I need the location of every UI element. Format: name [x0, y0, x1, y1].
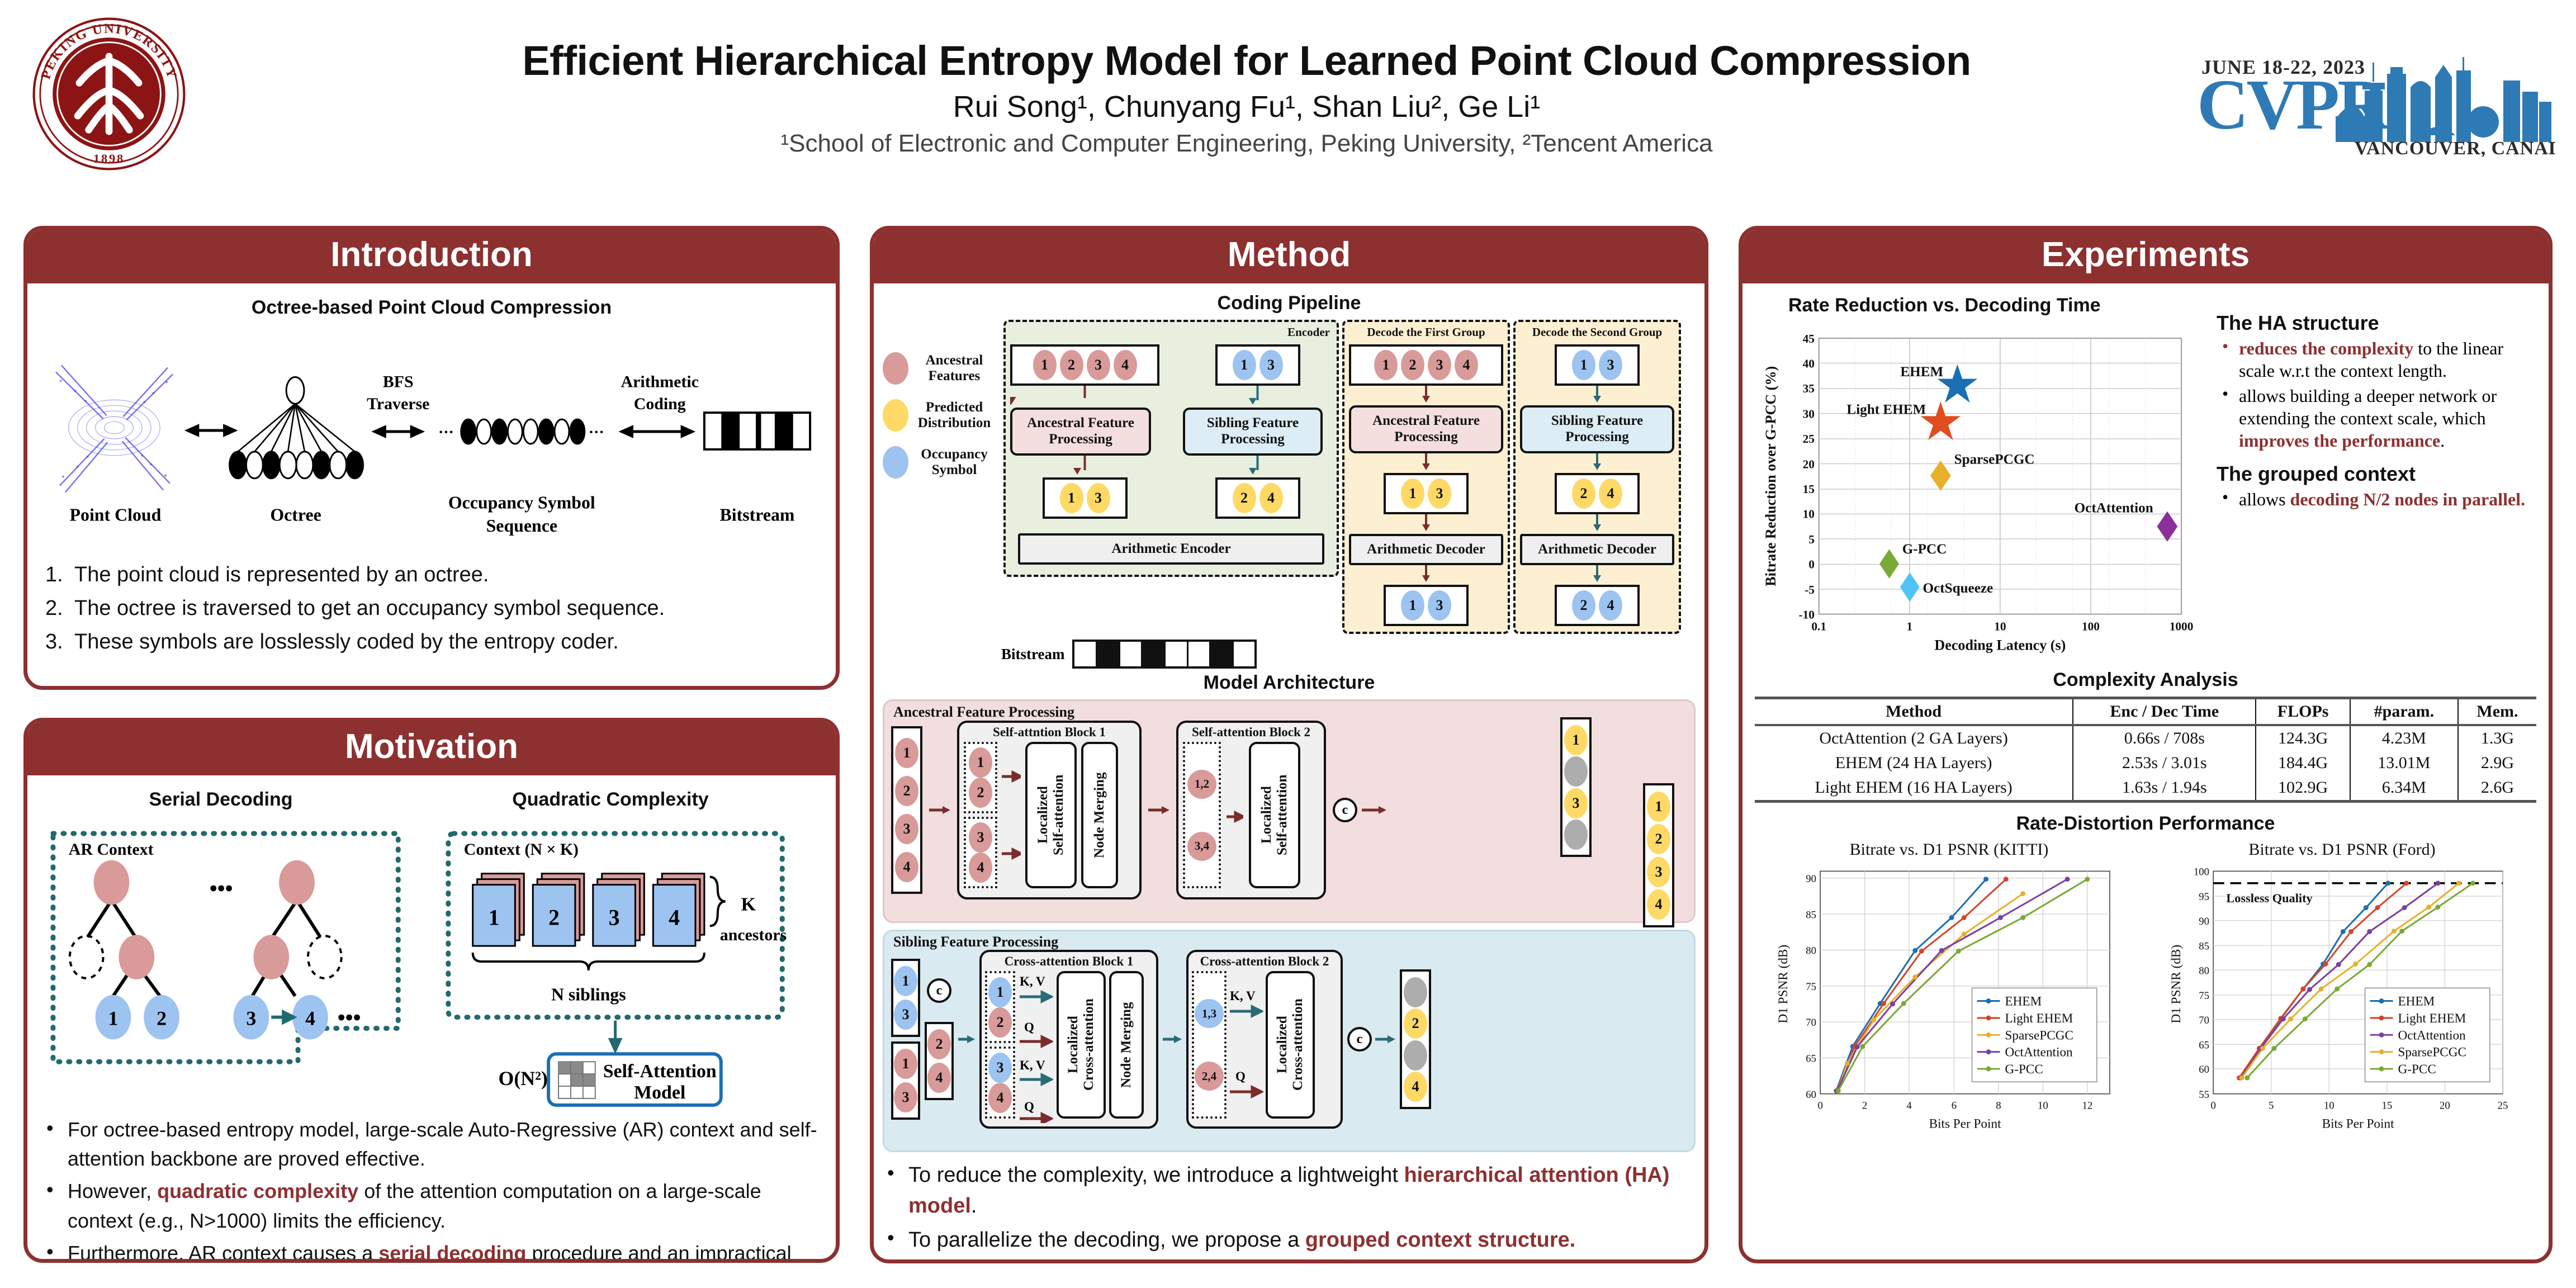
occupancy-symbol-icon — [883, 446, 908, 479]
svg-text:25: 25 — [2498, 1100, 2508, 1111]
svg-text:VANCOUVER, CANADA: VANCOUVER, CANADA — [2355, 138, 2555, 157]
legend-item-occupancy: OccupancySymbol — [883, 446, 1000, 479]
svg-text:0.1: 0.1 — [1811, 620, 1826, 633]
token-pred-1: 1 — [1060, 483, 1083, 513]
intro-item-3: 3.These symbols are losslessly coded by … — [45, 626, 821, 659]
k-brace — [710, 877, 726, 926]
cross-attention-block-1: Cross-attention Block 1 1 2 3 4 — [979, 950, 1158, 1129]
q-label-2: Q — [1024, 1100, 1034, 1114]
arrow-sa1-sa2 — [1148, 804, 1169, 816]
svg-text:···: ··· — [589, 424, 604, 441]
decode1-occ-13: 1 3 — [1384, 585, 1469, 626]
svg-text:35: 35 — [1803, 382, 1815, 395]
decode2-arithmetic-decoder: Arithmetic Decoder — [1520, 534, 1674, 566]
cell-mem: 2.9G — [2458, 751, 2536, 775]
arrow-merged-attn — [1227, 742, 1243, 893]
arrow-anc-out — [1362, 804, 1386, 816]
svg-text:80: 80 — [2199, 965, 2209, 977]
ha-structure-title: The HA structure — [2217, 311, 2536, 335]
bfs-label-line1: BFS — [383, 372, 414, 391]
rd-kitti-chart: Bitrate vs. D1 PSNR (KITTI) — [1755, 840, 2143, 1142]
svg-text:-5: -5 — [1805, 583, 1815, 596]
encoder-group: Encoder 1 2 3 4 Ancestral FeaturePro — [1003, 320, 1339, 577]
svg-text:3: 3 — [609, 905, 620, 930]
n-siblings-brace — [473, 953, 704, 970]
decode-first-group: Decode the First Group 1 2 3 4 Ancestral… — [1342, 320, 1510, 634]
cell-time: 1.63s / 1.94s — [2073, 775, 2256, 802]
rate-reduction-chart: Rate Reduction vs. Decoding Time — [1755, 291, 2208, 660]
svg-text:OctSqueeze: OctSqueeze — [1922, 581, 1993, 596]
decode2-occ-24: 2 4 — [1555, 585, 1640, 626]
experiments-heading: Experiments — [1742, 230, 2549, 283]
svg-text:65: 65 — [2199, 1039, 2209, 1051]
ford-xlabel: Bits Per Point — [2322, 1116, 2394, 1131]
token-anc-3: 3 — [1087, 350, 1110, 380]
complexity-label: O(N²) — [498, 1067, 547, 1090]
cell-time: 0.66s / 708s — [2073, 725, 2256, 751]
peking-university-logo: PEKING UNIVERSITY 1898 — [31, 16, 187, 172]
ar-context-group: AR Context 1 2 ••• — [53, 834, 398, 1062]
cell-mem: 2.6G — [2458, 775, 2536, 802]
scatter-ylabel: Bitrate Reduction over G-PCC (%) — [1763, 366, 1779, 586]
introduction-heading: Introduction — [27, 230, 836, 283]
svg-text:100: 100 — [2194, 866, 2209, 878]
token-anc-4: 4 — [1114, 350, 1137, 380]
ancestors-label: ancestors — [720, 926, 787, 944]
encoder-pred-24: 2 4 — [1215, 477, 1300, 519]
cell-method: Light EHEM (16 HA Layers) — [1755, 775, 2073, 802]
cell-flops: 184.4G — [2256, 751, 2350, 775]
motivation-body: Serial Decoding Quadratic Complexity AR … — [27, 775, 836, 1263]
svg-text:20: 20 — [1803, 457, 1815, 471]
complexity-analysis-title: Complexity Analysis — [1755, 669, 2536, 691]
token-pred-4: 4 — [1259, 483, 1283, 513]
arrows-anc-pairs — [1002, 742, 1021, 893]
svg-text:2: 2 — [157, 1007, 167, 1030]
introduction-body: Octree-based Point Cloud Compression — [27, 283, 836, 671]
decode2-sibling-processing: Sibling FeatureProcessing — [1520, 405, 1674, 453]
rd-ford-title: Bitrate vs. D1 PSNR (Ford) — [2148, 840, 2536, 859]
ha-bullets: reduces the complexity to the linear sca… — [2217, 337, 2536, 452]
context-label: Context (N × K) — [464, 840, 579, 859]
svg-text:Light EHEM: Light EHEM — [2398, 1011, 2466, 1026]
page-title: Efficient Hierarchical Entropy Model for… — [436, 39, 2057, 83]
ha-bullet-2: allows building a deeper network or exte… — [2217, 385, 2536, 452]
ar-node-empty-left — [70, 936, 103, 978]
table-row: OctAttention (2 GA Layers) 0.66s / 708s … — [1755, 725, 2536, 751]
decode-first-title: Decode the First Group — [1344, 325, 1508, 339]
kitti-xlabel: Bits Per Point — [1929, 1116, 2001, 1131]
svg-text:1898: 1898 — [93, 151, 125, 165]
concat-node-sib: c — [927, 978, 951, 1003]
introduction-figure-title: Octree-based Point Cloud Compression — [42, 297, 821, 319]
svg-text:10: 10 — [2038, 1100, 2048, 1111]
table-header-row: Method Enc / Dec Time FLOPs #param. Mem. — [1755, 698, 2536, 726]
cross-attention-block-2: Cross-attention Block 2 1,3 2,4 K, V — [1186, 950, 1343, 1129]
svg-text:80: 80 — [1806, 945, 1816, 957]
attention-matrix-icon — [558, 1062, 595, 1098]
label-bitstream: Bitstream — [720, 505, 795, 524]
ar-node-empty-right — [308, 936, 342, 978]
svg-text:75: 75 — [1806, 981, 1816, 993]
svg-text:12: 12 — [2082, 1100, 2092, 1111]
affiliation: ¹School of Electronic and Computer Engin… — [436, 130, 2057, 157]
motivation-heading: Motivation — [27, 722, 836, 775]
svg-text:100: 100 — [2082, 620, 2100, 633]
bitstream-bits — [1072, 640, 1257, 669]
pipeline-legend: AncestralFeatures PredictedDistribution … — [883, 320, 1000, 493]
motivation-bullet-3: Furthermore, AR context causes a serial … — [42, 1239, 821, 1263]
q-label-1: Q — [1024, 1020, 1034, 1034]
bfs-label-line2: Traverse — [367, 395, 429, 413]
svg-text:EHEM: EHEM — [2398, 995, 2435, 1009]
sib-section-label: Sibling Feature Processing — [893, 934, 1058, 950]
localized-self-attention-1: LocalizedSelf-attention — [1025, 742, 1077, 888]
decode1-ancestral-processing: Ancestral FeatureProcessing — [1349, 405, 1503, 453]
final-output-column: 1 2 3 4 — [1643, 783, 1674, 927]
sib-anc-input-left: 1 3 — [891, 1041, 920, 1120]
ha-bullet-1: reduces the complexity to the linear sca… — [2217, 337, 2536, 382]
experiments-panel: Experiments Rate Reduction vs. Decoding … — [1739, 226, 2553, 1263]
bitstream-label: Bitstream — [1001, 646, 1064, 663]
svg-text:···: ··· — [438, 424, 454, 441]
arrow-down-3 — [1183, 386, 1332, 405]
svg-text:G-PCC: G-PCC — [1902, 542, 1947, 557]
anc-input-column: 1 2 3 4 — [891, 726, 922, 894]
svg-text:40: 40 — [1803, 357, 1815, 370]
svg-text:0: 0 — [1817, 1100, 1822, 1111]
point-cloud-image — [56, 366, 173, 493]
col-params: #param. — [2350, 698, 2458, 726]
arrow-down-4 — [1183, 456, 1332, 475]
table-row: Light EHEM (16 HA Layers) 1.63s / 1.94s … — [1755, 775, 2536, 802]
poster-root: PEKING UNIVERSITY 1898 Efficient Hierarc… — [0, 0, 2576, 1288]
octree-pipeline-figure: BFS Traverse ··· — [42, 324, 821, 559]
context-stacks: 1 2 3 — [473, 874, 704, 946]
ar-node-root-left — [94, 860, 130, 905]
svg-text:2: 2 — [548, 905, 560, 930]
decode1-ancestral-tokens: 1 2 3 4 — [1349, 344, 1503, 386]
node-merging-1: Node Merging — [1081, 742, 1118, 888]
decode2-occ-13: 1 3 — [1555, 344, 1640, 386]
arrow-sequence-bitstream — [622, 427, 692, 436]
kv-q-arrows-2: K, V Q — [1229, 971, 1263, 1123]
svg-text:Light EHEM: Light EHEM — [2005, 1011, 2073, 1026]
sa-block1-title: Self-attntion Block 1 — [959, 723, 1139, 740]
legend-item-predicted: PredictedDistribution — [883, 399, 1000, 432]
ca-block1-title: Cross-attention Block 1 — [982, 952, 1156, 969]
svg-text:4: 4 — [305, 1007, 315, 1030]
token-anc-2: 2 — [1060, 350, 1083, 380]
svg-text:OctAttention: OctAttention — [2075, 501, 2153, 516]
table-row: EHEM (24 HA Layers) 2.53s / 3.01s 184.4G… — [1755, 751, 2536, 775]
sib-occ-input: 1 3 — [891, 959, 920, 1037]
node-merging-2: Node Merging — [1109, 971, 1144, 1119]
anc-pair-top: 1 2 — [964, 742, 997, 813]
svg-text:90: 90 — [1806, 873, 1816, 885]
method-bullets: To reduce the complexity, we introduce a… — [883, 1160, 1696, 1256]
cell-time: 2.53s / 3.01s — [2073, 751, 2256, 775]
token-occ-1: 1 — [1233, 350, 1256, 380]
encoder-occupancy-tokens: 1 3 — [1215, 344, 1300, 386]
complexity-analysis-table: Method Enc / Dec Time FLOPs #param. Mem.… — [1755, 697, 2536, 803]
poster-header: PEKING UNIVERSITY 1898 Efficient Hierarc… — [0, 0, 2576, 207]
svg-text:OctAttention: OctAttention — [2398, 1028, 2466, 1043]
experiments-body: Rate Reduction vs. Decoding Time — [1742, 283, 2549, 1149]
sa-block2-title: Self-attention Block 2 — [1178, 723, 1324, 740]
svg-text:70: 70 — [2199, 1015, 2209, 1026]
octree-diagram — [230, 377, 363, 478]
arrow-anc-in — [929, 804, 950, 816]
scatter-xlabel: Decoding Latency (s) — [1934, 637, 2066, 653]
cell-method: OctAttention (2 GA Layers) — [1755, 725, 2073, 751]
svg-text:25: 25 — [1803, 432, 1815, 446]
method-body: Coding Pipeline AncestralFeatures Predic — [874, 283, 1704, 1263]
decode2-pred-24: 2 4 — [1555, 473, 1640, 514]
predicted-distribution-icon — [883, 399, 908, 432]
rd-kitti-title: Bitrate vs. D1 PSNR (KITTI) — [1755, 840, 2143, 859]
svg-text:45: 45 — [1803, 332, 1815, 345]
encoder-pred-13: 1 3 — [1043, 477, 1128, 519]
svg-text:10: 10 — [1803, 507, 1815, 520]
decode1-pred-13: 1 3 — [1384, 473, 1469, 514]
kitti-ylabel: D1 PSNR (dB) — [1776, 945, 1791, 1024]
ca-pair-bot: 3 4 — [985, 1046, 1015, 1119]
anc-output-column: 1 3 — [1560, 717, 1592, 857]
svg-text:85: 85 — [1806, 909, 1816, 921]
motivation-bullet-2: However, quadratic complexity of the att… — [42, 1177, 821, 1235]
decode-second-group: Decode the Second Group 1 3 Sibling Feat… — [1513, 320, 1681, 634]
svg-text:5: 5 — [2269, 1100, 2274, 1111]
self-attention-block-1: Self-attntion Block 1 1 2 3 4 — [957, 721, 1142, 899]
bitstream-row: Bitstream — [1001, 640, 1696, 669]
quadratic-complexity-title: Quadratic Complexity — [400, 789, 821, 811]
grouped-context-title: The grouped context — [2217, 462, 2536, 486]
svg-text:4: 4 — [669, 905, 680, 930]
grouped-bullets: allows decoding N/2 nodes in parallel. — [2217, 488, 2536, 510]
encoder-ancestral-tokens: 1 2 3 4 — [1010, 344, 1159, 386]
cell-flops: 124.3G — [2256, 725, 2350, 751]
label-point-cloud: Point Cloud — [70, 505, 162, 524]
svg-text:1: 1 — [489, 905, 500, 930]
svg-text:5: 5 — [1808, 533, 1815, 546]
legend-item-ancestral: AncestralFeatures — [883, 352, 1000, 385]
svg-text:SparsePCGC: SparsePCGC — [2398, 1045, 2466, 1060]
ar-node-mid-right — [253, 935, 289, 979]
arrow-sib-in — [958, 1034, 975, 1045]
coding-pipeline-figure: AncestralFeatures PredictedDistribution … — [883, 320, 1696, 634]
token-anc-1: 1 — [1033, 350, 1057, 380]
col-enc-dec: Enc / Dec Time — [2073, 698, 2256, 726]
kv-q-arrows-1: K, V Q K, V — [1019, 971, 1053, 1123]
svg-text:10: 10 — [2324, 1100, 2334, 1111]
ar-ellipsis-2: ••• — [338, 1006, 361, 1030]
svg-text:SparsePCGC: SparsePCGC — [2005, 1028, 2073, 1043]
cell-params: 6.34M — [2350, 775, 2458, 802]
anc-merged-column: 1,2 3,4 — [1183, 742, 1221, 888]
localized-cross-attention-1: LocalizedCross-attention — [1057, 971, 1106, 1119]
rd-performance-title: Rate-Distortion Performance — [1755, 813, 2536, 835]
n-siblings-label: N siblings — [551, 985, 626, 1005]
arrow-to-self-attention — [610, 1021, 621, 1051]
bitstream-strip — [704, 413, 810, 449]
context-group: Context (N × K) 1 2 — [448, 834, 787, 1105]
decode1-arithmetic-decoder: Arithmetic Decoder — [1349, 534, 1503, 566]
arrow-sib-out — [1375, 1034, 1395, 1045]
localized-cross-attention-2: LocalizedCross-attention — [1266, 971, 1315, 1119]
motivation-bullet-1: For octree-based entropy model, large-sc… — [42, 1115, 821, 1173]
svg-text:70: 70 — [1806, 1017, 1816, 1029]
q-label-3: Q — [1235, 1069, 1246, 1083]
ca-merged-column: 1,3 2,4 — [1192, 971, 1227, 1119]
grouped-bullet-1: allows decoding N/2 nodes in parallel. — [2217, 488, 2536, 510]
label-occupancy-line1: Occupancy Symbol — [448, 493, 595, 512]
svg-text:OctAttention: OctAttention — [2005, 1045, 2073, 1060]
ar-node-root-right — [279, 860, 315, 905]
svg-text:0: 0 — [1808, 557, 1815, 571]
kv-label-1: K, V — [1020, 974, 1045, 988]
svg-text:G-PCC: G-PCC — [2398, 1062, 2436, 1077]
self-attention-label-1: Self-Attention — [603, 1061, 717, 1082]
arrow-down-1 — [1010, 386, 1159, 405]
svg-text:20: 20 — [2440, 1100, 2450, 1111]
svg-text:EHEM: EHEM — [1900, 364, 1943, 380]
svg-text:1: 1 — [108, 1007, 118, 1030]
occupancy-symbol-sequence: ··· ··· — [438, 419, 604, 444]
self-attention-label-2: Model — [634, 1082, 685, 1103]
arithmetic-encoder-box: Arithmetic Encoder — [1018, 533, 1324, 565]
ar-node-mid-left — [119, 935, 154, 979]
localized-self-attention-2: LocalizedSelf-attention — [1249, 742, 1300, 888]
svg-text:0: 0 — [2210, 1100, 2215, 1111]
arithmetic-label-line1: Arithmetic — [621, 372, 699, 391]
anc-section-label: Ancestral Feature Processing — [893, 704, 1074, 721]
introduction-panel: Introduction Octree-based Point Cloud Co… — [23, 226, 840, 690]
arrow-octree-sequence — [375, 427, 422, 436]
svg-text:1000: 1000 — [2170, 620, 2194, 633]
introduction-numbered-list: 1.The point cloud is represented by an o… — [42, 559, 821, 658]
sibling-feature-processing-section: Sibling Feature Processing 1 3 1 3 — [883, 930, 1696, 1152]
svg-text:G-PCC: G-PCC — [2005, 1062, 2043, 1077]
sib-anc-input-right: 2 4 — [925, 1022, 954, 1100]
svg-text:Light EHEM: Light EHEM — [1846, 402, 1926, 418]
ar-context-label: AR Context — [69, 840, 154, 859]
svg-text:4: 4 — [1906, 1100, 1912, 1111]
method-bullet-2: To parallelize the decoding, we propose … — [883, 1225, 1696, 1256]
encoder-group-title: Encoder — [1287, 325, 1330, 339]
k-label: K — [741, 894, 756, 915]
serial-decoding-title: Serial Decoding — [42, 789, 400, 811]
svg-text:6: 6 — [1952, 1100, 1957, 1111]
coding-pipeline-title: Coding Pipeline — [883, 292, 1696, 314]
svg-text:95: 95 — [2199, 891, 2209, 903]
cell-params: 4.23M — [2350, 725, 2458, 751]
author-list: Rui Song¹, Chunyang Fu¹, Shan Liu², Ge L… — [436, 91, 2057, 124]
svg-text:60: 60 — [2199, 1064, 2209, 1076]
cell-mem: 1.3G — [2458, 725, 2536, 751]
rate-reduction-chart-title: Rate Reduction vs. Decoding Time — [1755, 295, 2208, 316]
svg-text:85: 85 — [2199, 941, 2209, 953]
label-octree: Octree — [270, 505, 321, 524]
svg-text:8: 8 — [1996, 1100, 2001, 1111]
ford-ylabel: D1 PSNR (dB) — [2169, 945, 2184, 1024]
svg-text:15: 15 — [2381, 1100, 2392, 1111]
ford-legend: EHEMLight EHEM OctAttentionSparsePCGC G-… — [2365, 988, 2490, 1082]
serial-arrow — [271, 1012, 293, 1022]
arrow-down-2 — [1010, 456, 1159, 475]
col-flops: FLOPs — [2256, 698, 2350, 726]
svg-text:65: 65 — [1806, 1053, 1816, 1065]
kv-label-3: K, V — [1230, 989, 1256, 1003]
svg-text:60: 60 — [1806, 1089, 1816, 1101]
col-mem: Mem. — [2458, 698, 2536, 726]
anc-pair-bot: 3 4 — [964, 817, 997, 888]
arithmetic-label-line2: Coding — [634, 395, 686, 413]
svg-text:30: 30 — [1803, 407, 1815, 420]
ar-ellipsis: ••• — [210, 877, 233, 901]
rd-ford-chart: Bitrate vs. D1 PSNR (Ford) — [2148, 840, 2536, 1142]
concat-node-anc: c — [1333, 798, 1357, 822]
svg-text:3: 3 — [246, 1007, 256, 1030]
self-attention-block-2: Self-attention Block 2 1,2 3,4 — [1176, 721, 1326, 899]
method-bullet-1: To reduce the complexity, we introduce a… — [883, 1160, 1696, 1221]
arrow-pointcloud-octree — [188, 426, 235, 435]
motivation-figure: AR Context 1 2 ••• — [42, 816, 821, 1107]
lossless-quality-label: Lossless Quality — [2226, 891, 2312, 905]
ca-pair-top: 1 2 — [985, 971, 1015, 1043]
cell-flops: 102.9G — [2256, 775, 2350, 802]
cell-params: 13.01M — [2350, 751, 2458, 775]
kv-label-2: K, V — [1020, 1058, 1045, 1072]
svg-text:1: 1 — [1906, 620, 1912, 633]
arrow-ca1-ca2 — [1163, 1034, 1182, 1045]
token-pred-2: 2 — [1233, 483, 1256, 513]
kitti-legend: EHEMLight EHEM SparsePCGCOctAttention G-… — [1972, 988, 2097, 1082]
motivation-panel: Motivation Serial Decoding Quadratic Com… — [23, 718, 840, 1263]
svg-text:10: 10 — [1994, 620, 2006, 633]
encoder-ancestral-processing: Ancestral FeatureProcessing — [1010, 408, 1151, 456]
decode-second-title: Decode the Second Group — [1516, 325, 1679, 339]
method-heading: Method — [874, 230, 1704, 283]
intro-item-2: 2.The octree is traversed to get an occu… — [45, 593, 821, 625]
motivation-bullets: For octree-based entropy model, large-sc… — [42, 1115, 821, 1263]
encoder-sibling-processing: Sibling FeatureProcessing — [1183, 408, 1323, 456]
svg-text:90: 90 — [2199, 916, 2209, 927]
svg-text:SparsePCGC: SparsePCGC — [1954, 452, 2035, 467]
cell-method: EHEM (24 HA Layers) — [1755, 751, 2073, 775]
svg-text:EHEM: EHEM — [2005, 995, 2042, 1009]
ancestral-feature-icon — [883, 352, 908, 385]
model-architecture-title: Model Architecture — [883, 672, 1696, 694]
svg-text:2: 2 — [1862, 1100, 1867, 1111]
label-occupancy-line2: Sequence — [486, 516, 557, 536]
experiments-text-block: The HA structure reduces the complexity … — [2213, 291, 2536, 660]
cvpr-logo: JUNE 18-22, 2023 CVPR — [2197, 50, 2555, 157]
token-pred-3: 3 — [1087, 483, 1110, 513]
intro-item-1: 1.The point cloud is represented by an o… — [45, 559, 821, 591]
col-method: Method — [1755, 698, 2073, 726]
sib-output-column: 2 4 — [1400, 969, 1431, 1109]
token-occ-3: 3 — [1259, 350, 1283, 380]
method-panel: Method Coding Pipeline AncestralFeatures — [870, 226, 1708, 1263]
ca-block2-title: Cross-attention Block 2 — [1188, 952, 1341, 969]
concat-node-sib-out: c — [1347, 1027, 1372, 1052]
svg-text:55: 55 — [2199, 1089, 2209, 1101]
svg-text:75: 75 — [2199, 990, 2209, 1002]
svg-text:15: 15 — [1803, 482, 1815, 496]
title-block: Efficient Hierarchical Entropy Model for… — [436, 39, 2057, 157]
